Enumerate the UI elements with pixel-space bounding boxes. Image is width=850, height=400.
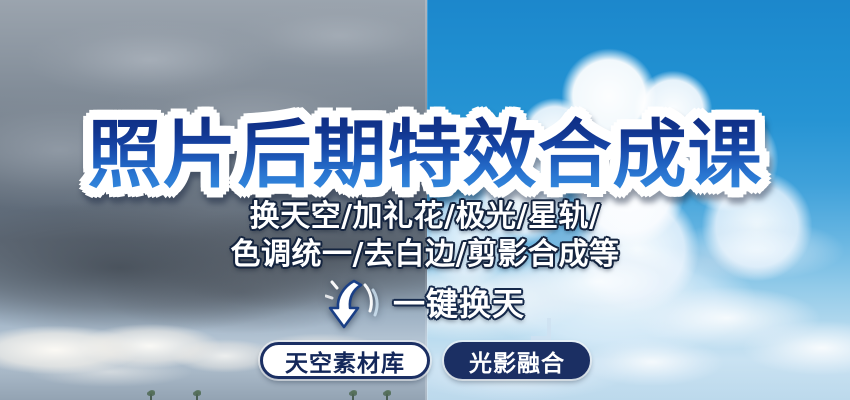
promo-banner: 照片后期特效合成课 换天空/加礼花/极光/星轨/ 色调统一/去白边/剪影合成等 …: [0, 0, 850, 400]
badge-row: 天空素材库 光影融合: [0, 342, 850, 379]
banner-subtitle: 换天空/加礼花/极光/星轨/ 色调统一/去白边/剪影合成等: [0, 198, 850, 274]
curved-down-arrow-icon: [325, 276, 381, 332]
badge-sky-material-library[interactable]: 天空素材库: [260, 342, 430, 379]
banner-title: 照片后期特效合成课: [0, 116, 850, 194]
banner-title-text: 照片后期特效合成课: [88, 116, 763, 194]
cta-label-text: 一键换天: [393, 285, 525, 323]
cta-label: 一键换天: [393, 284, 525, 324]
subtitle-line-1: 换天空/加礼花/极光/星轨/: [0, 198, 850, 236]
badge-light-shadow-blend[interactable]: 光影融合: [444, 342, 590, 379]
corner-bracket-icon: [531, 318, 551, 340]
cta-row: 一键换天: [0, 276, 850, 332]
subtitle-line-2: 色调统一/去白边/剪影合成等: [0, 236, 850, 274]
